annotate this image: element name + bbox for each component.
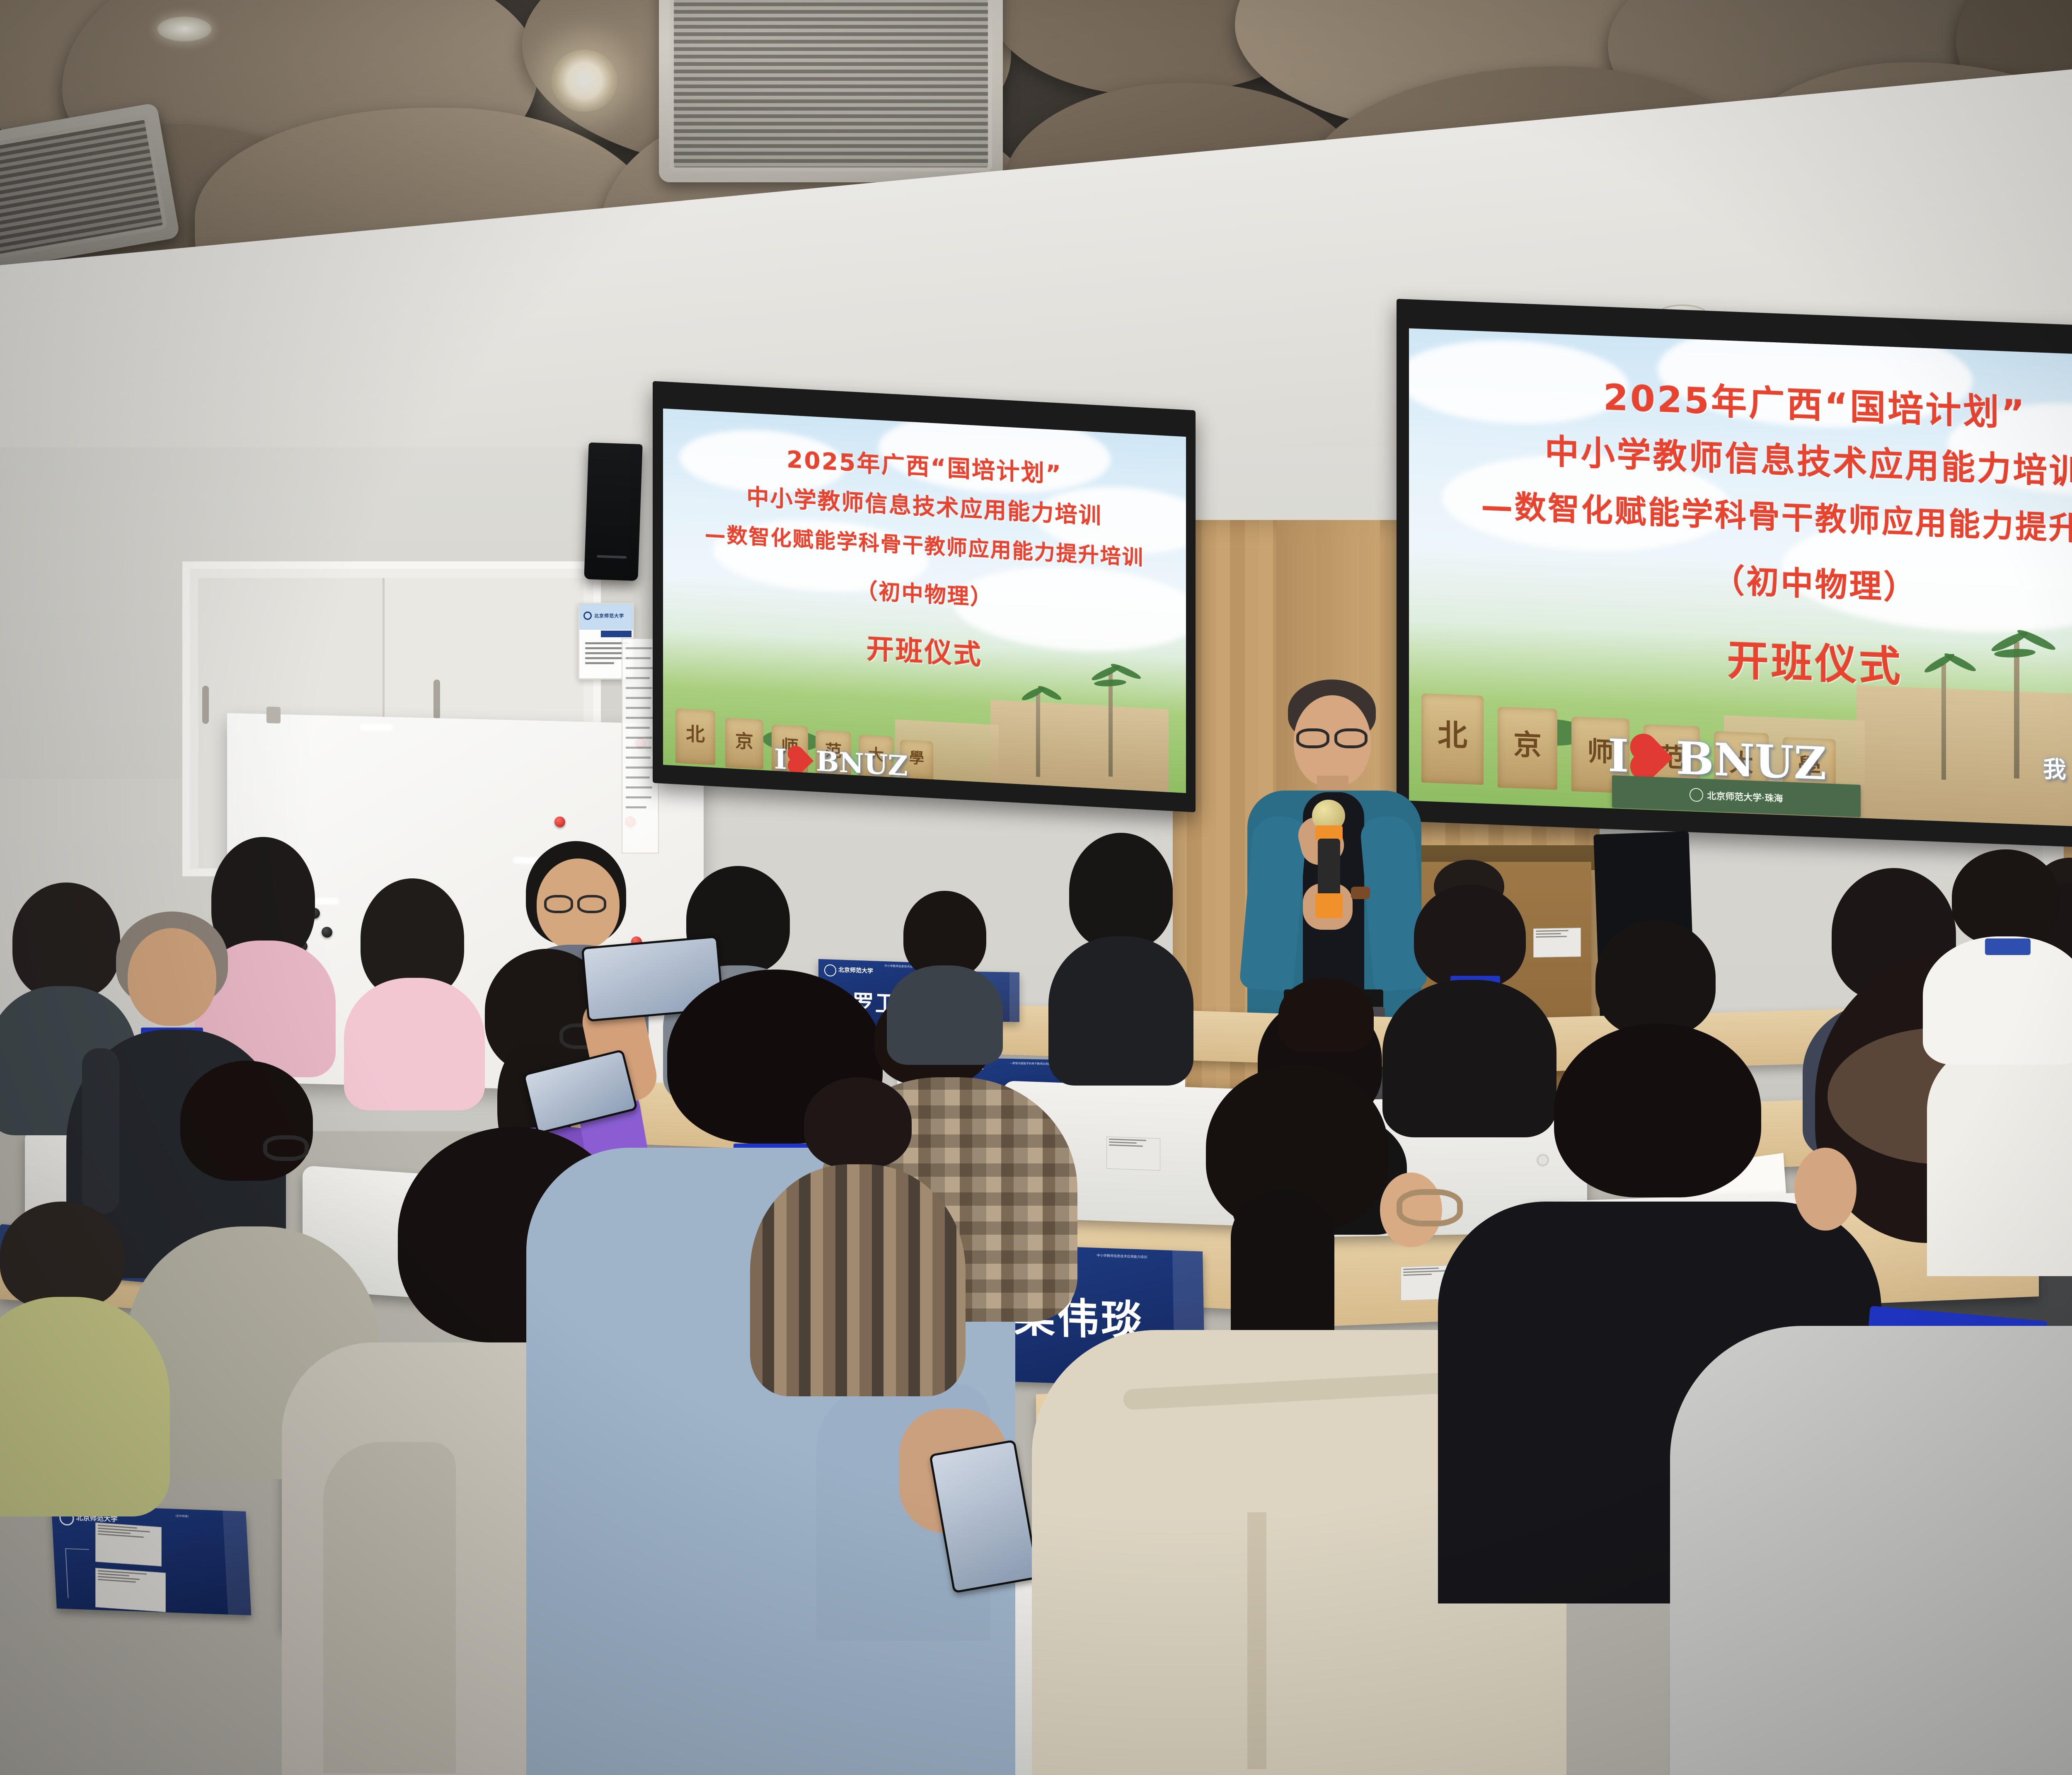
- microphone-body: [1318, 839, 1340, 901]
- audience-member: [1927, 1044, 2072, 1276]
- wristwatch-icon: [1351, 887, 1370, 899]
- second-sign-text: 我 ♥ 北师珠: [2043, 750, 2072, 789]
- right-screen: 北 京 师 范 大 學 I BNUZ 北京师范大学·珠海 我 ♥ 北师珠 202…: [1409, 328, 2072, 832]
- ceiling-spotlight: [551, 50, 617, 112]
- bnu-seal-icon: [583, 612, 592, 620]
- chair-asset-tag: [95, 1568, 166, 1612]
- audience-member: [1923, 849, 2072, 1065]
- ceiling-ac-vent: [0, 102, 180, 274]
- audience-member: [891, 891, 999, 1065]
- glasses-icon: [544, 895, 573, 913]
- jacket-center-seam: [1247, 1512, 1266, 1769]
- glasses-icon: [1296, 728, 1329, 748]
- ceiling-ac-unit: [659, 0, 1003, 182]
- poster-title-bar: [601, 631, 632, 637]
- door-handle-icon[interactable]: [202, 686, 209, 724]
- polo-collar-trim: [1985, 938, 2031, 955]
- second-campus-sign: 我 ♥ 北师珠: [2043, 750, 2072, 789]
- plaque-text: 北京师范大学·珠海: [1707, 788, 1783, 805]
- door-handle-icon[interactable]: [433, 680, 440, 719]
- microphone-band: [1315, 825, 1343, 840]
- wall-speaker-left: [584, 443, 642, 581]
- sign-letter-i: I: [774, 742, 787, 776]
- hair-bow: [1278, 978, 1374, 1052]
- whiteboard-glare: [360, 724, 393, 731]
- whiteboard-clip: [266, 706, 281, 723]
- soffit-downlight: [157, 17, 211, 41]
- heart-icon: [1634, 738, 1673, 776]
- heart-icon: [790, 749, 813, 772]
- whiteboard-magnet[interactable]: [554, 816, 565, 827]
- ear: [1794, 1148, 1857, 1231]
- audience-member: [746, 1077, 961, 1392]
- microphone-base: [1315, 893, 1343, 918]
- photo-scene: 北京师范大学: [0, 0, 2072, 1775]
- sign-letter-i: I: [1608, 730, 1629, 783]
- chair-asset-tag: [95, 1522, 162, 1566]
- glasses-icon: [577, 895, 606, 913]
- left-screen: 北 京 师 范 大 學 I BNUZ 2025年广西“国培计划” 中小学教师信息…: [663, 409, 1186, 793]
- bnu-seal-icon: [1690, 788, 1703, 802]
- glasses-icon: [1334, 728, 1368, 748]
- poster-university: 北京师范大学: [594, 612, 624, 619]
- audience-member: [0, 1202, 166, 1516]
